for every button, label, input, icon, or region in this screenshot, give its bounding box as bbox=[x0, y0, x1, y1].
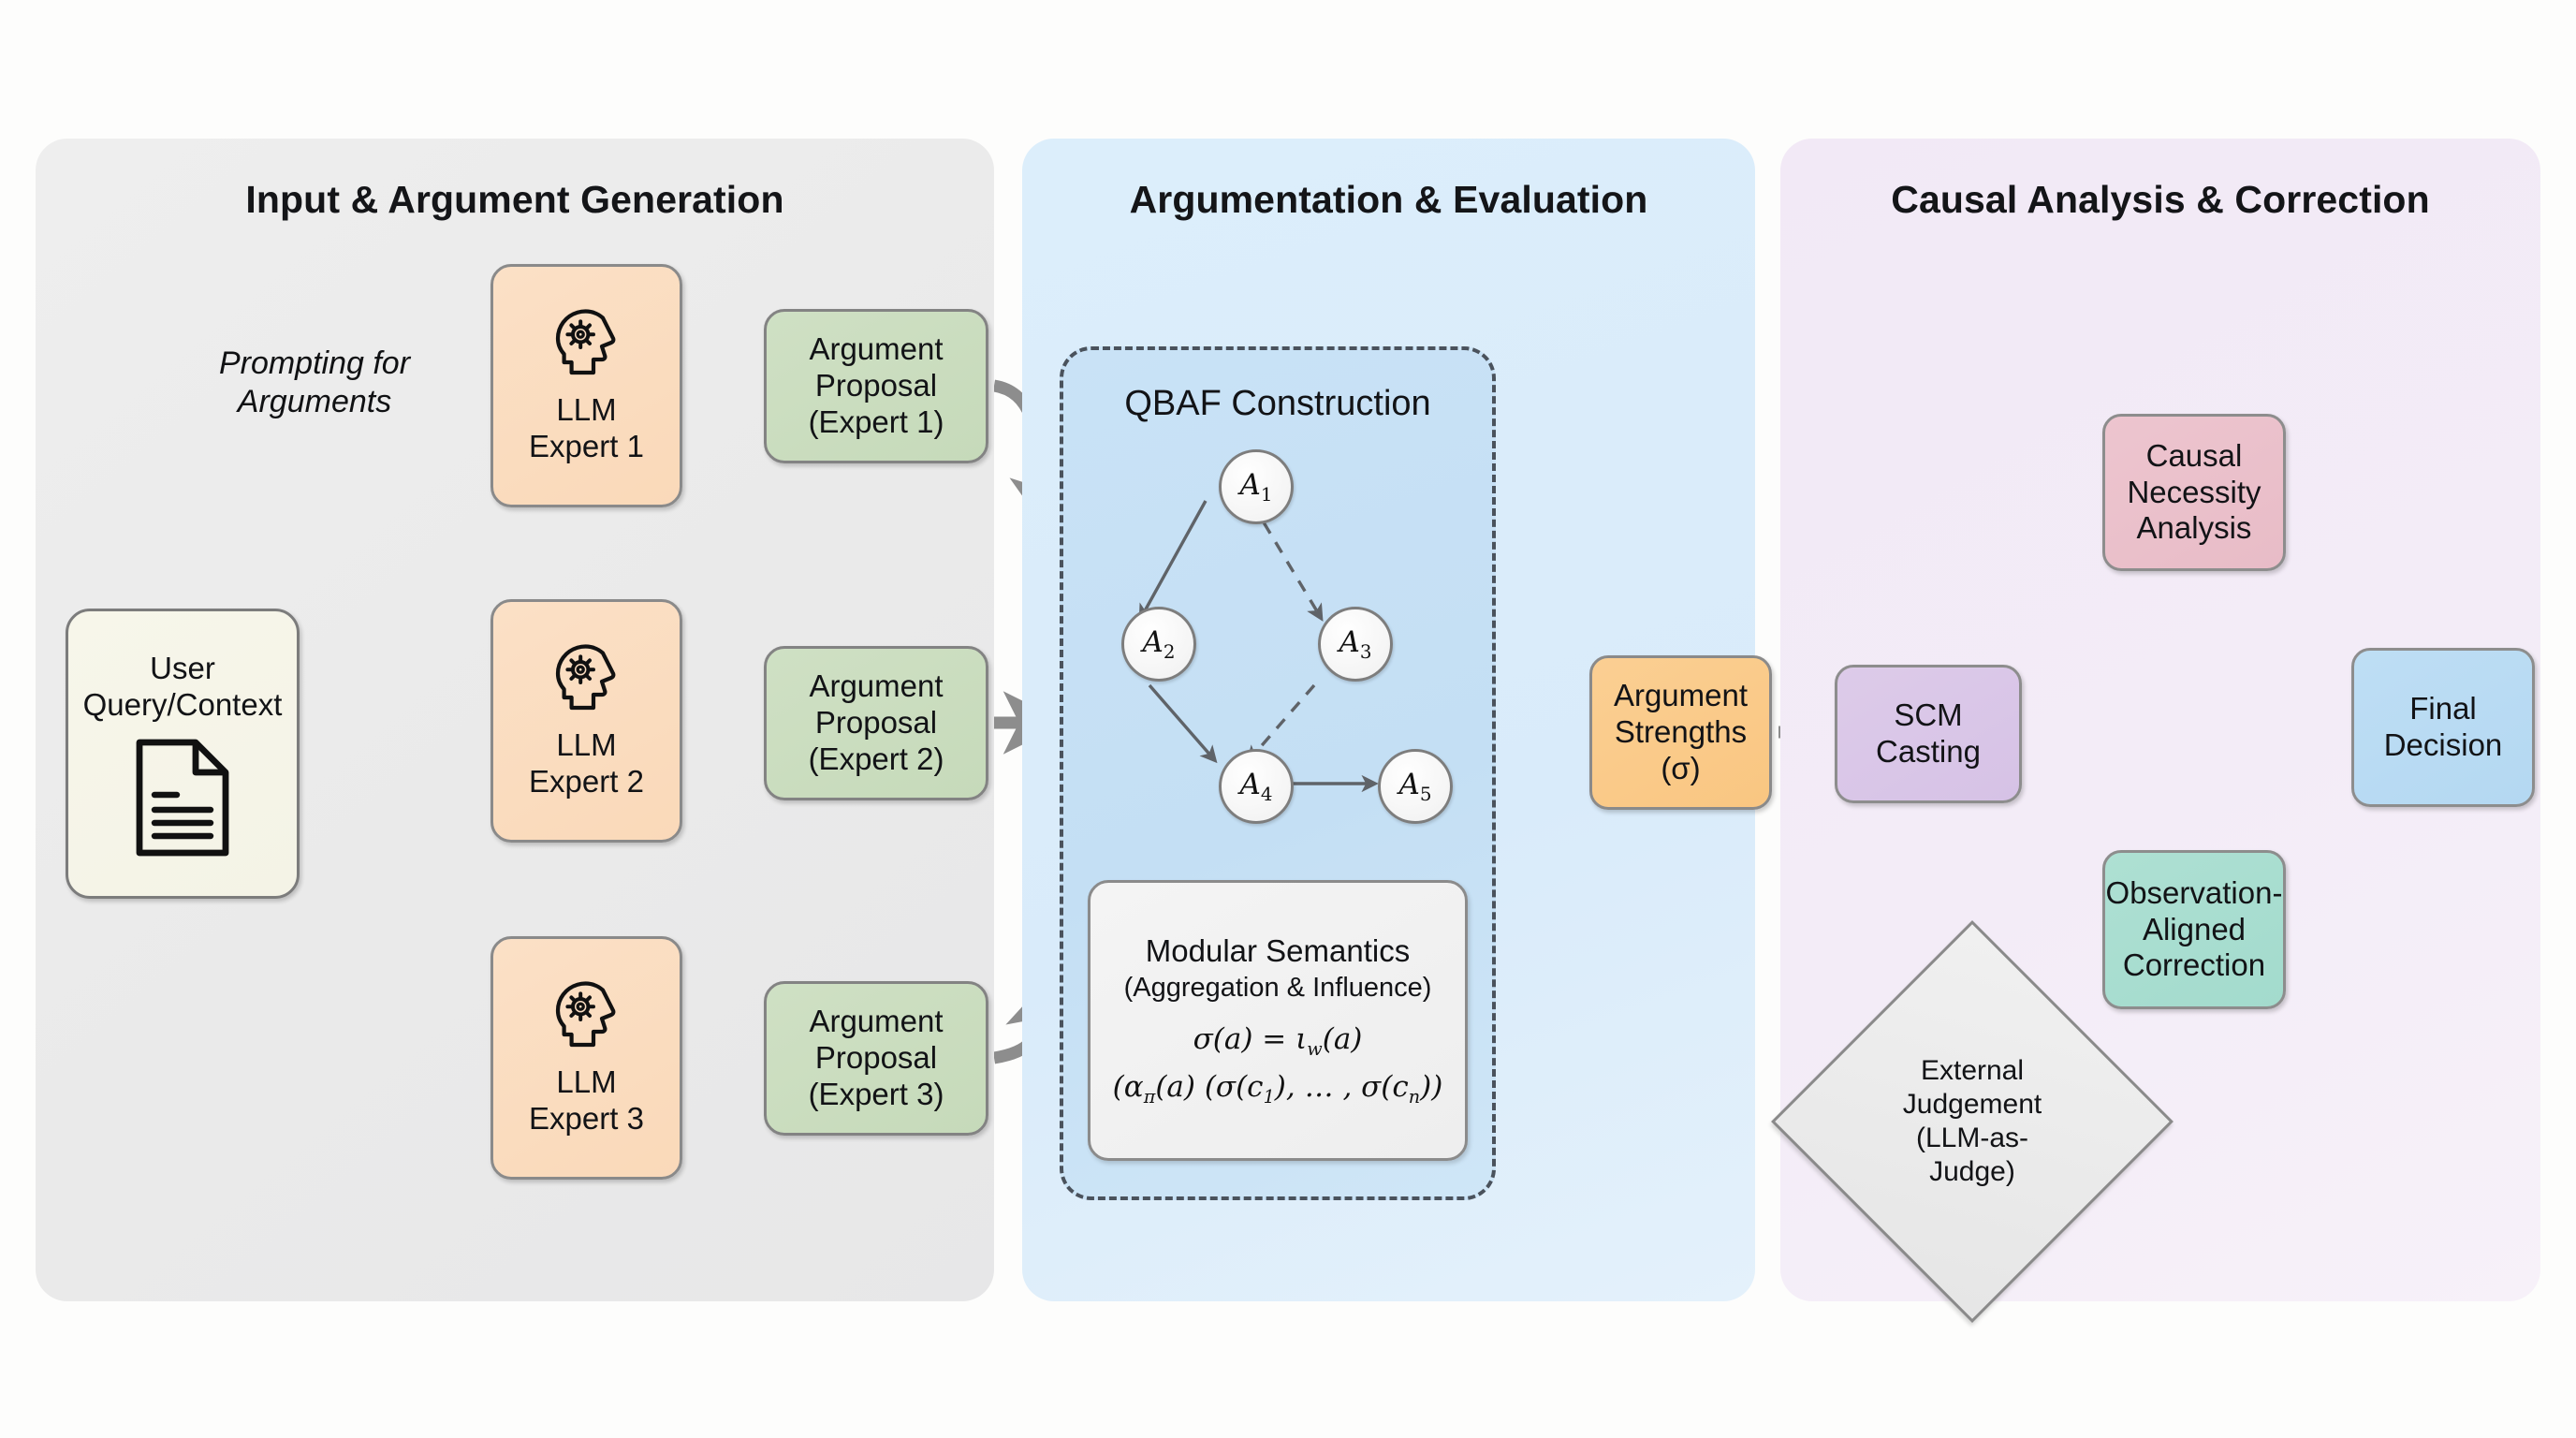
scm-line2: Casting bbox=[1876, 734, 1981, 770]
node-argument-strengths[interactable]: Argument Strengths (σ) bbox=[1589, 655, 1772, 810]
a5-base: A bbox=[1398, 768, 1419, 801]
cna-line2: Necessity bbox=[2127, 475, 2261, 511]
graph-node-a2[interactable]: A2 bbox=[1121, 607, 1196, 682]
panel-input-title: Input & Argument Generation bbox=[36, 178, 994, 222]
prompt-label-line2: Arguments bbox=[238, 384, 391, 419]
cna-line3: Analysis bbox=[2137, 510, 2252, 547]
node-argument-proposal-3[interactable]: Argument Proposal (Expert 3) bbox=[764, 981, 988, 1136]
judge-line2: Judgement bbox=[1903, 1088, 2042, 1122]
modular-semantics-subtitle: (Aggregation & Influence) bbox=[1124, 973, 1432, 1004]
prompt-label-line1: Prompting for bbox=[219, 345, 410, 381]
judge-line4: Judge) bbox=[1929, 1155, 2015, 1189]
cna-line1: Causal bbox=[2146, 438, 2243, 475]
proposal3-line2: Proposal bbox=[815, 1040, 937, 1077]
a2-index: 2 bbox=[1164, 641, 1176, 663]
proposal2-line2: Proposal bbox=[815, 705, 937, 741]
modular-semantics-formula-2: (απ(a) (σ(c1), … , σ(cn)) bbox=[1113, 1070, 1443, 1108]
proposal3-line3: (Expert 3) bbox=[809, 1077, 944, 1113]
oac-line1: Observation- bbox=[2106, 875, 2283, 912]
graph-node-a3[interactable]: A3 bbox=[1318, 607, 1393, 682]
proposal1-line1: Argument bbox=[809, 331, 943, 368]
graph-node-a1[interactable]: A1 bbox=[1219, 449, 1294, 524]
diagram-canvas: Input & Argument Generation User Query/C… bbox=[0, 0, 2576, 1438]
proposal3-line1: Argument bbox=[809, 1004, 943, 1040]
node-llm-expert-3[interactable]: LLM Expert 3 bbox=[490, 936, 682, 1180]
node-llm-expert-1[interactable]: LLM Expert 1 bbox=[490, 264, 682, 507]
external-judgement-text: External Judgement (LLM-as- Judge) bbox=[1830, 979, 2115, 1264]
node-user-query-context[interactable]: User Query/Context bbox=[66, 609, 300, 899]
a3-index: 3 bbox=[1360, 641, 1372, 663]
a5-index: 5 bbox=[1420, 784, 1432, 805]
strengths-line2: Strengths bbox=[1615, 714, 1747, 751]
a4-base: A bbox=[1239, 768, 1260, 801]
panel-arg-title: Argumentation & Evaluation bbox=[1022, 178, 1755, 222]
strengths-line3: (σ) bbox=[1661, 751, 1700, 787]
panel-causal-title: Causal Analysis & Correction bbox=[1780, 178, 2540, 222]
proposal1-line2: Proposal bbox=[815, 368, 937, 404]
modular-semantics-formula-1: σ(a) = ιw(a) bbox=[1193, 1022, 1363, 1060]
expert3-line2: Expert 3 bbox=[529, 1101, 644, 1137]
head-gear-icon bbox=[546, 641, 628, 718]
node-observation-aligned-correction[interactable]: Observation- Aligned Correction bbox=[2102, 850, 2286, 1009]
node-argument-proposal-1[interactable]: Argument Proposal (Expert 1) bbox=[764, 309, 988, 463]
graph-node-a4[interactable]: A4 bbox=[1219, 749, 1294, 824]
document-icon bbox=[132, 739, 233, 857]
label-prompting-for-arguments: Prompting for Arguments bbox=[174, 345, 455, 422]
qbaf-title: QBAF Construction bbox=[1063, 384, 1492, 424]
node-scm-casting[interactable]: SCM Casting bbox=[1835, 665, 2022, 803]
user-node-line1: User bbox=[150, 651, 215, 687]
expert1-line2: Expert 1 bbox=[529, 429, 644, 465]
strengths-line1: Argument bbox=[1614, 678, 1748, 714]
expert1-line1: LLM bbox=[556, 392, 616, 429]
user-node-line2: Query/Context bbox=[83, 687, 283, 724]
node-final-decision[interactable]: Final Decision bbox=[2351, 648, 2535, 807]
expert2-line1: LLM bbox=[556, 727, 616, 764]
oac-line3: Correction bbox=[2123, 947, 2265, 984]
expert3-line1: LLM bbox=[556, 1064, 616, 1101]
proposal2-line3: (Expert 2) bbox=[809, 741, 944, 778]
final-line1: Final bbox=[2409, 691, 2477, 727]
a3-base: A bbox=[1339, 625, 1359, 659]
node-causal-necessity-analysis[interactable]: Causal Necessity Analysis bbox=[2102, 414, 2286, 571]
a1-index: 1 bbox=[1261, 484, 1273, 506]
judge-line3: (LLM-as- bbox=[1916, 1122, 2028, 1155]
node-argument-proposal-2[interactable]: Argument Proposal (Expert 2) bbox=[764, 646, 988, 800]
node-llm-expert-2[interactable]: LLM Expert 2 bbox=[490, 599, 682, 843]
head-gear-icon bbox=[546, 306, 628, 383]
proposal1-line3: (Expert 1) bbox=[809, 404, 944, 441]
a4-index: 4 bbox=[1261, 784, 1273, 805]
node-modular-semantics[interactable]: Modular Semantics (Aggregation & Influen… bbox=[1088, 880, 1468, 1161]
graph-node-a5[interactable]: A5 bbox=[1378, 749, 1453, 824]
oac-line2: Aligned bbox=[2143, 912, 2246, 948]
modular-semantics-title: Modular Semantics bbox=[1146, 933, 1410, 969]
judge-line1: External bbox=[1921, 1054, 2024, 1088]
final-line2: Decision bbox=[2384, 727, 2503, 764]
a1-base: A bbox=[1239, 468, 1260, 502]
scm-line1: SCM bbox=[1894, 697, 1962, 734]
expert2-line2: Expert 2 bbox=[529, 764, 644, 800]
proposal2-line1: Argument bbox=[809, 668, 943, 705]
head-gear-icon bbox=[546, 978, 628, 1055]
a2-base: A bbox=[1142, 625, 1163, 659]
node-external-judgement[interactable]: External Judgement (LLM-as- Judge) bbox=[1830, 979, 2115, 1264]
